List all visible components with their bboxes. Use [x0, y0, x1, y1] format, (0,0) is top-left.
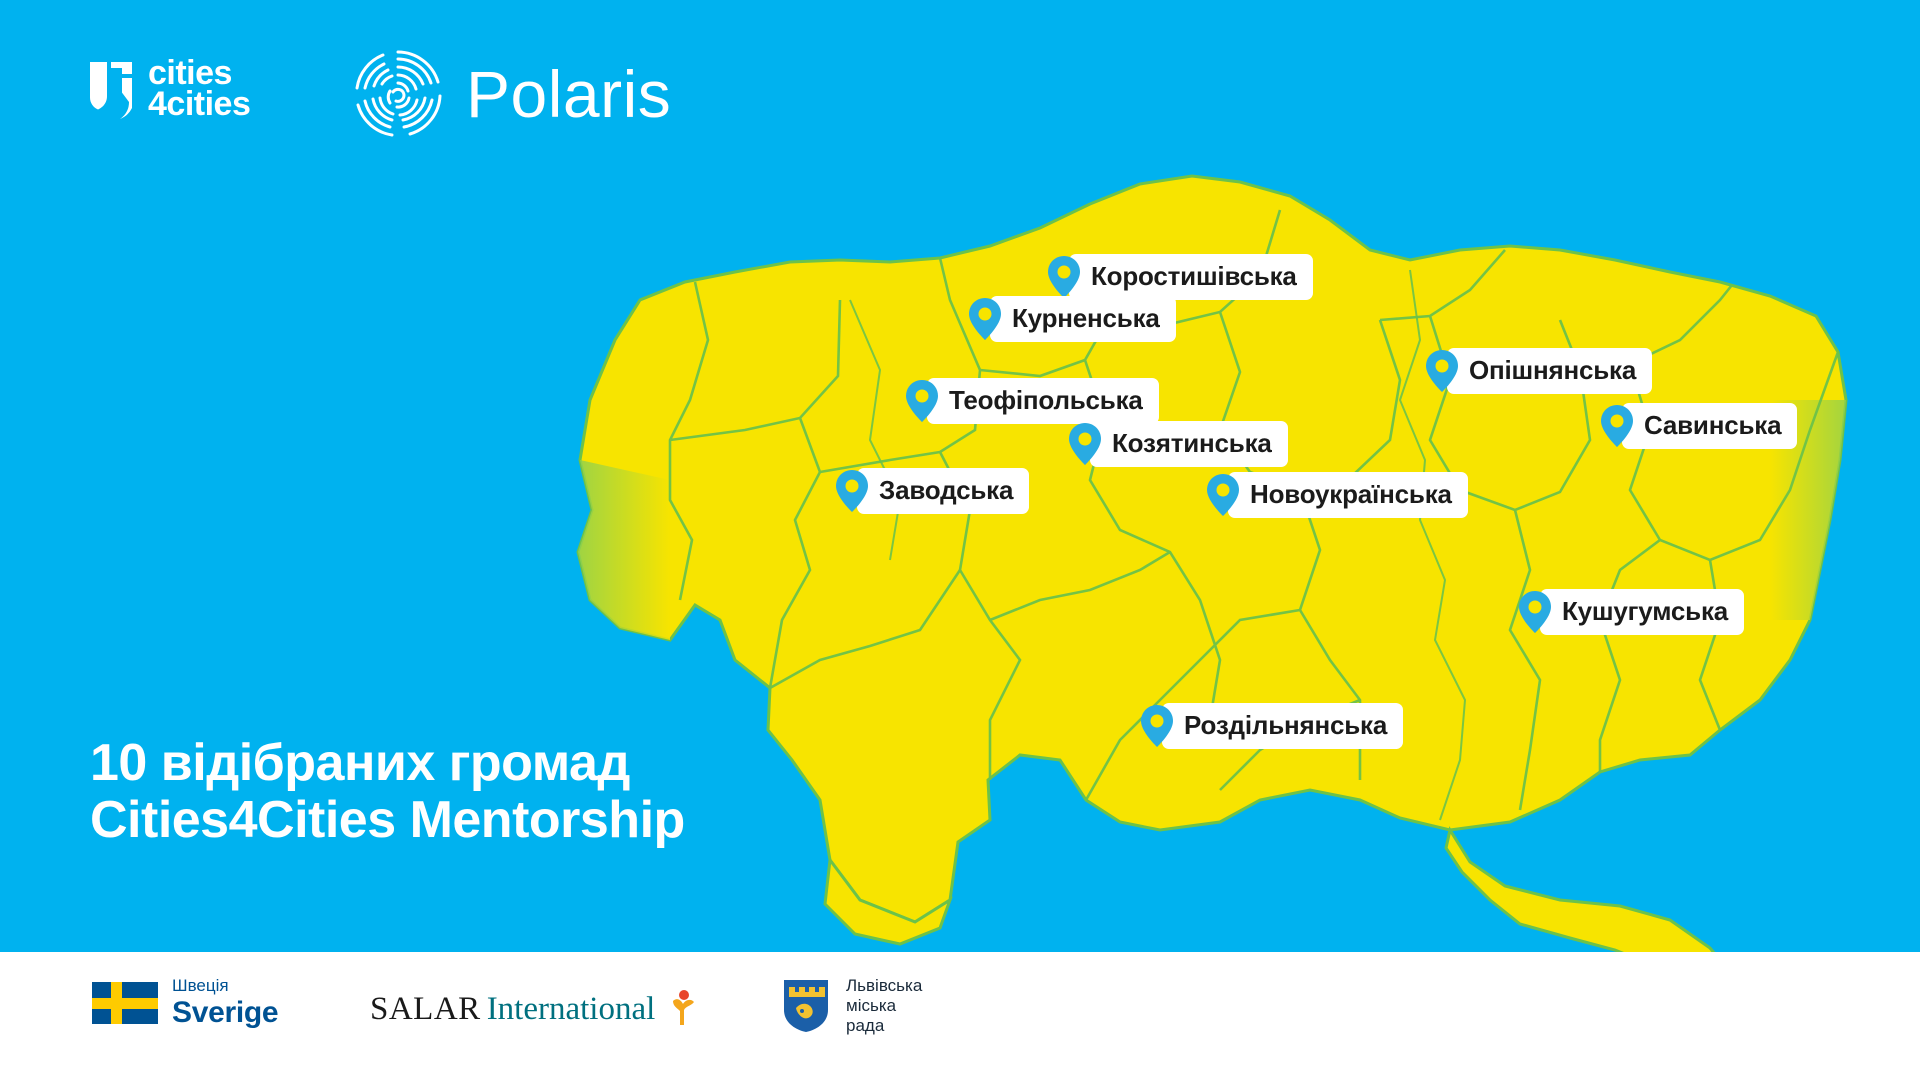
map-pin-label: Теофіпольська [927, 378, 1159, 424]
map-pin-korostyshivska[interactable]: Коростишівська [1047, 254, 1313, 300]
headline-line-2: Cities4Cities Mentorship [90, 792, 685, 849]
location-pin-icon [1047, 255, 1081, 299]
partner-logo-salar: SALAR International [370, 988, 697, 1026]
lviv-wordmark: Львівська міська рада [846, 976, 922, 1036]
lviv-crest-icon [782, 978, 830, 1034]
map-pin-label: Савинська [1622, 403, 1797, 449]
map-pin-label: Козятинська [1090, 421, 1288, 467]
map-pin-kurnenska[interactable]: Курненська [968, 296, 1176, 342]
sweden-label-sv: Sverige [172, 998, 278, 1028]
headline-line-1: 10 відібраних громад [90, 735, 685, 792]
salar-international-word: International [487, 993, 656, 1026]
map-pin-label: Заводська [857, 468, 1029, 514]
cities4cities-wordmark: cities 4cities [148, 58, 250, 120]
map-pin-opishnianska[interactable]: Опішнянська [1425, 348, 1652, 394]
shield-logo-icon [88, 58, 134, 120]
ukraine-map [520, 100, 1920, 980]
location-pin-icon [905, 379, 939, 423]
polaris-wordmark: Polaris [466, 61, 671, 127]
map-pin-zavodska[interactable]: Заводська [835, 468, 1029, 514]
location-pin-icon [1140, 704, 1174, 748]
map-pin-kushuhumska[interactable]: Кушугумська [1518, 589, 1744, 635]
partner-logo-lviv: Львівська міська рада [782, 976, 922, 1036]
map-pin-label: Курненська [990, 296, 1176, 342]
map-pin-label: Коростишівська [1069, 254, 1313, 300]
sweden-label-uk: Швеція [172, 977, 278, 994]
partner-logo-sweden: Швеція Sverige [92, 977, 278, 1028]
location-pin-icon [1425, 349, 1459, 393]
salar-word: SALAR [370, 993, 481, 1026]
location-pin-icon [1518, 590, 1552, 634]
page-title: 10 відібраних громад Cities4Cities Mento… [90, 735, 685, 849]
flag-stripe-horizontal [92, 998, 158, 1009]
polaris-spiral-icon [352, 48, 444, 140]
map-pin-label: Опішнянська [1447, 348, 1652, 394]
map-pin-label: Новоукраїнська [1228, 472, 1468, 518]
map-pin-novoukrainska[interactable]: Новоукраїнська [1206, 472, 1468, 518]
location-pin-icon [1068, 422, 1102, 466]
map-pin-label: Кушугумська [1540, 589, 1744, 635]
location-pin-icon [968, 297, 1002, 341]
polaris-logo: Polaris [352, 48, 671, 140]
cities4cities-logo: cities 4cities [88, 58, 250, 120]
swedish-flag-icon [92, 982, 158, 1024]
lviv-line-3: рада [846, 1016, 884, 1035]
poster-canvas: cities 4cities [0, 0, 1920, 1080]
brand-line-2: 4cities [148, 89, 250, 120]
poster-footer: Швеція Sverige SALAR International [0, 952, 1920, 1080]
salar-figure-icon [667, 988, 697, 1026]
sweden-wordmark: Швеція Sverige [172, 977, 278, 1028]
lviv-line-2: міська [846, 996, 896, 1015]
map-pin-savynska[interactable]: Савинська [1600, 403, 1797, 449]
poster-header: cities 4cities [0, 0, 1920, 180]
location-pin-icon [1206, 473, 1240, 517]
map-pin-koziatynska[interactable]: Козятинська [1068, 421, 1288, 467]
map-pin-label: Роздільнянська [1162, 703, 1403, 749]
map-pin-teofipolska[interactable]: Теофіпольська [905, 378, 1159, 424]
lviv-line-1: Львівська [846, 976, 922, 995]
map-pin-rozdilnianska[interactable]: Роздільнянська [1140, 703, 1403, 749]
location-pin-icon [1600, 404, 1634, 448]
location-pin-icon [835, 469, 869, 513]
